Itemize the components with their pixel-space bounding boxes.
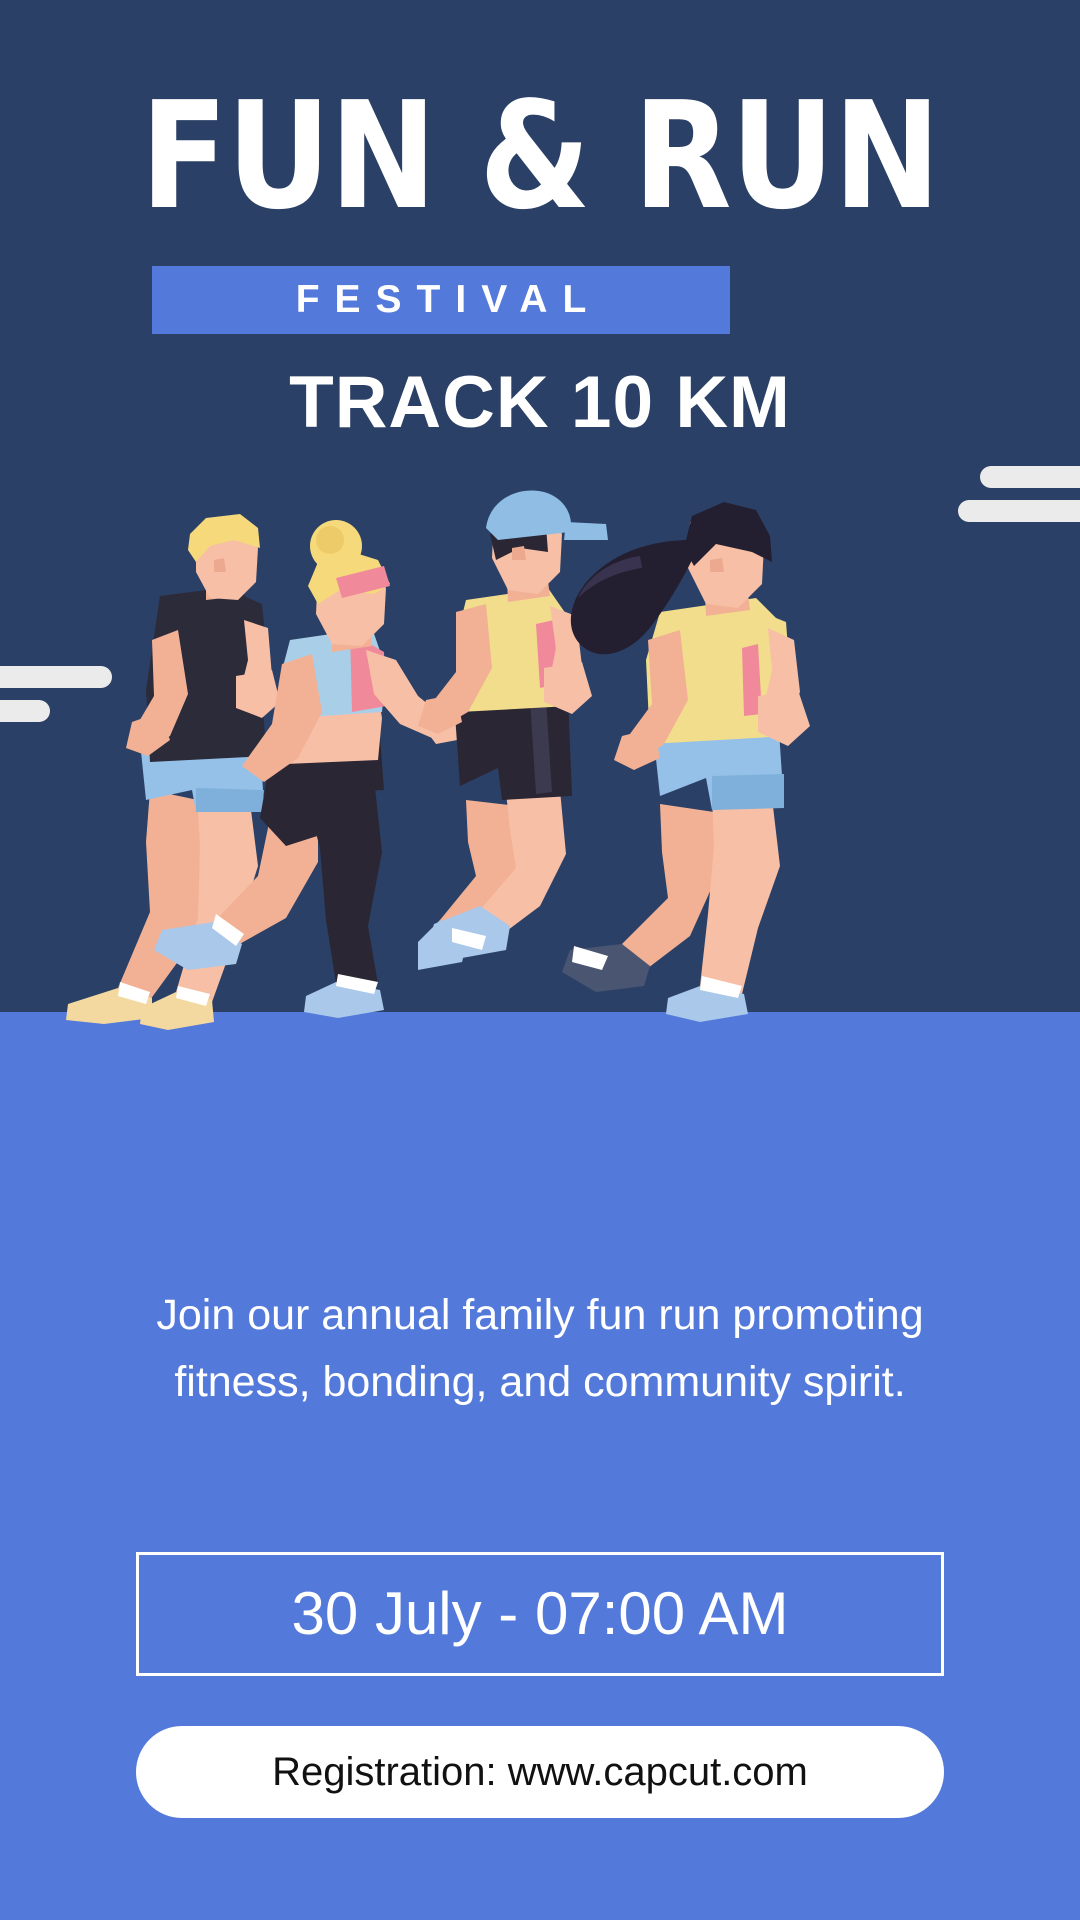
poster-blurb: Join our annual family fun run promoting… [90,1282,990,1416]
poster-root: FUN & RUN FESTIVAL TRACK 10 KM [0,0,1080,1920]
registration-button[interactable]: Registration: www.capcut.com [136,1726,944,1818]
date-time-box: 30 July - 07:00 AM [136,1552,944,1676]
four-runners-illustration [0,0,1080,1100]
date-time-label: 30 July - 07:00 AM [139,1555,941,1673]
runner-4 [562,502,810,1022]
registration-label: Registration: www.capcut.com [136,1726,944,1818]
